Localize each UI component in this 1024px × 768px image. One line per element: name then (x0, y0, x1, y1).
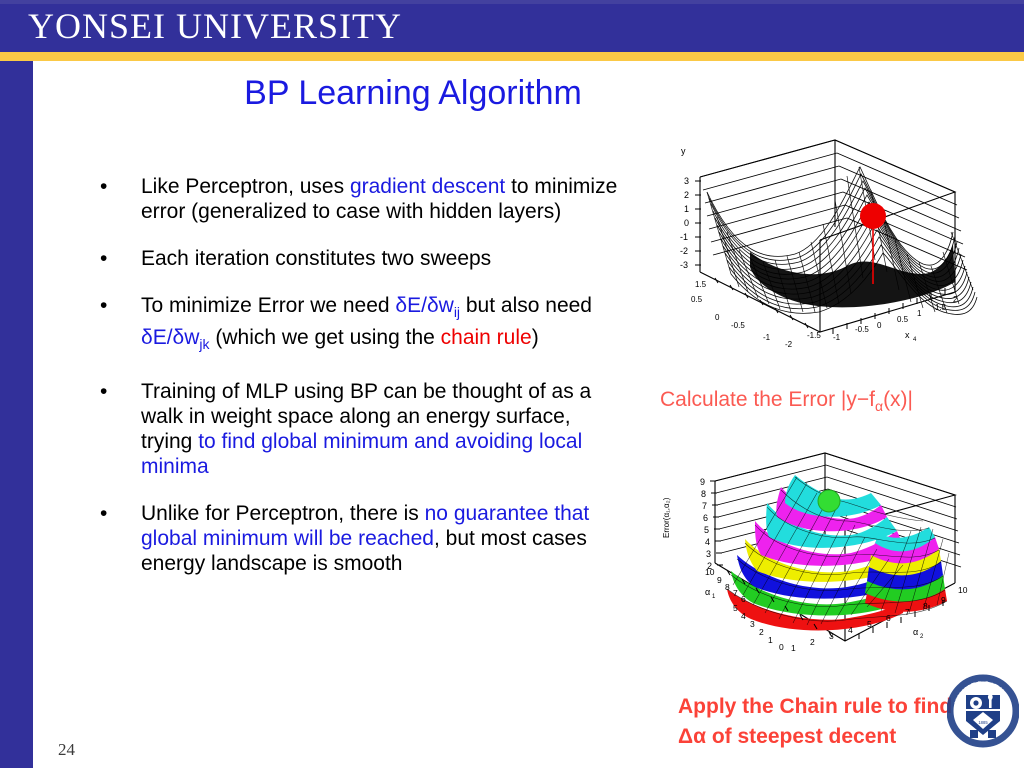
svg-text:5: 5 (704, 525, 709, 535)
svg-text:5: 5 (867, 619, 872, 629)
bullet-item: •Each iteration constitutes two sweeps (96, 246, 626, 271)
bullet-marker: • (100, 174, 107, 199)
z-axis-title: Error(α₁,α₂) (662, 497, 671, 538)
svg-text:1: 1 (684, 204, 689, 214)
svg-text:-2: -2 (680, 246, 688, 256)
svg-text:2: 2 (953, 295, 958, 304)
svg-text:8: 8 (923, 601, 928, 611)
caption-top-subscript: α (875, 398, 883, 414)
svg-text:α: α (913, 627, 918, 637)
z-axis-title: y (681, 146, 686, 156)
bullet-text-segment: To minimize Error we need (141, 294, 395, 317)
figure-top-caption: Calculate the Error |y−fα(x)| (660, 388, 1020, 414)
bullet-text-segment: ) (532, 326, 539, 349)
bullet-text: Unlike for Perceptron, there is no guara… (141, 502, 589, 575)
svg-text:6: 6 (703, 513, 708, 523)
svg-text:4: 4 (705, 537, 710, 547)
seal-year: 1885 (978, 720, 988, 725)
svg-text:3: 3 (829, 631, 834, 641)
svg-text:x: x (905, 330, 910, 340)
bullet-text-segment: chain rule (441, 326, 532, 349)
bullet-text: Each iteration constitutes two sweeps (141, 247, 491, 270)
svg-text:7: 7 (702, 501, 707, 511)
svg-text:1.5: 1.5 (695, 280, 707, 289)
seal-svg: UNIVERSITY 1885 (947, 663, 1019, 759)
svg-text:α: α (705, 587, 710, 597)
bullet-text-segment: (which we get using the (210, 326, 441, 349)
svg-text:3: 3 (706, 549, 711, 559)
bullet-text-segment: δE/δw (141, 326, 199, 349)
svg-text:8: 8 (725, 582, 730, 592)
svg-text:9: 9 (717, 575, 722, 585)
svg-text:7: 7 (905, 607, 910, 617)
page-title: BP Learning Algorithm (33, 72, 793, 114)
svg-text:3: 3 (684, 176, 689, 186)
svg-text:5: 5 (733, 603, 738, 613)
bullet-text: To minimize Error we need δE/δwij but al… (141, 294, 592, 349)
current-weight-point-marker (818, 490, 840, 512)
svg-text:7: 7 (733, 588, 738, 598)
svg-text:-1: -1 (680, 232, 688, 242)
caption-top-suffix: (x)| (883, 388, 913, 411)
header-band: YONSEI UNIVERSITY (0, 0, 1024, 52)
svg-text:-1.5: -1.5 (807, 331, 821, 340)
bullet-text-segment: Unlike for Perceptron, there is (141, 502, 425, 525)
bullet-text-segment: to find global minimum and avoiding loca… (141, 430, 582, 478)
svg-text:-0.5: -0.5 (855, 325, 869, 334)
bullet-item: •Like Perceptron, uses gradient descent … (96, 174, 626, 224)
svg-text:9: 9 (941, 595, 946, 605)
svg-text:1: 1 (768, 635, 773, 645)
bullet-item: •To minimize Error we need δE/δwij but a… (96, 293, 626, 357)
header-gold-stripe (0, 52, 1024, 61)
svg-text:8: 8 (701, 489, 706, 499)
svg-text:0: 0 (715, 313, 720, 322)
svg-text:2: 2 (684, 190, 689, 200)
bullet-marker: • (100, 246, 107, 271)
svg-text:0.5: 0.5 (897, 315, 909, 324)
left-accent-bar (0, 61, 33, 768)
svg-text:4: 4 (741, 611, 746, 621)
current-error-point-marker (860, 203, 886, 229)
svg-text:1: 1 (791, 643, 796, 653)
error-surface-wireframe-figure: y 321 0-1-2 -3 1.50.5 0-0.5 -1-2 (655, 132, 995, 382)
svg-text:10: 10 (705, 567, 715, 577)
svg-text:2: 2 (759, 627, 764, 637)
svg-text:0: 0 (877, 321, 882, 330)
svg-text:-2: -2 (785, 340, 793, 349)
svg-text:2: 2 (920, 634, 924, 640)
svg-text:0.5: 0.5 (691, 295, 703, 304)
yonsei-university-seal-logo: UNIVERSITY 1885 (947, 663, 1019, 759)
bullet-text-segment: gradient descent (350, 175, 505, 198)
bullet-text-segment: δE/δw (395, 294, 453, 317)
svg-text:4: 4 (848, 625, 853, 635)
svg-text:2: 2 (810, 637, 815, 647)
page-number: 24 (58, 740, 75, 760)
bullet-marker: • (100, 293, 107, 318)
bullet-item: •Unlike for Perceptron, there is no guar… (96, 501, 626, 576)
svg-text:-3: -3 (680, 260, 688, 270)
bullet-text-subscript: jk (199, 336, 209, 352)
bullet-marker: • (100, 501, 107, 526)
bullet-text-segment: Each iteration constitutes two sweeps (141, 247, 491, 270)
caption-top-prefix: Calculate the Error |y−f (660, 388, 875, 411)
bullet-item: •Training of MLP using BP can be thought… (96, 379, 626, 479)
bullet-text-segment: but also need (460, 294, 592, 317)
svg-text:10: 10 (958, 585, 968, 595)
bullet-list: •Like Perceptron, uses gradient descent … (96, 174, 626, 598)
svg-text:4: 4 (913, 337, 917, 343)
svg-text:1: 1 (712, 594, 716, 600)
error-surface-colored-figure: Error(α₁,α₂) 987 654 32 1098 765 432 10 … (655, 443, 1000, 673)
svg-text:6: 6 (886, 613, 891, 623)
svg-text:1.5: 1.5 (935, 303, 947, 312)
header-top-accent-line (0, 0, 1024, 4)
wireframe-surface-svg: y 321 0-1-2 -3 1.50.5 0-0.5 -1-2 (655, 132, 995, 382)
bullet-text-segment: Like Perceptron, uses (141, 175, 350, 198)
svg-text:0: 0 (684, 218, 689, 228)
bullet-text: Training of MLP using BP can be thought … (141, 380, 591, 478)
svg-text:6: 6 (741, 594, 746, 604)
svg-text:-1: -1 (763, 333, 771, 342)
bullet-text: Like Perceptron, uses gradient descent t… (141, 175, 617, 223)
svg-text:9: 9 (700, 477, 705, 487)
university-name: YONSEI UNIVERSITY (28, 5, 402, 47)
svg-text:-0.5: -0.5 (731, 321, 745, 330)
svg-text:-1: -1 (833, 333, 841, 342)
svg-text:0: 0 (779, 642, 784, 652)
svg-text:3: 3 (750, 619, 755, 629)
colored-surface-svg: Error(α₁,α₂) 987 654 32 1098 765 432 10 … (655, 443, 1000, 673)
bullet-marker: • (100, 379, 107, 404)
svg-text:1: 1 (917, 309, 922, 318)
